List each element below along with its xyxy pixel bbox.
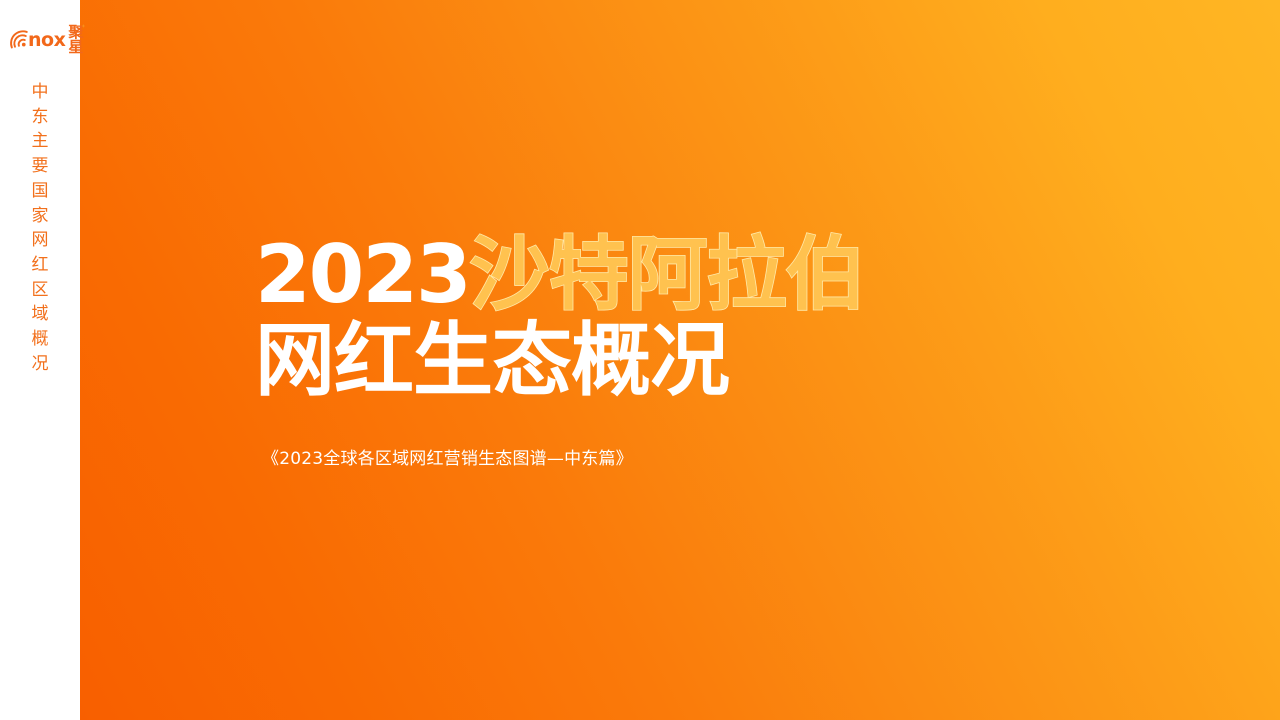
brand-wordmark: nox bbox=[28, 31, 65, 50]
left-sidebar-rail: nox 聚星 中 东 主 要 国 家 网 红 区 域 概 况 bbox=[0, 0, 80, 720]
brand-logo[interactable]: nox 聚星 bbox=[8, 24, 80, 56]
sidebar-vertical-char: 国 bbox=[32, 179, 49, 204]
subtitle: 《2023全球各区域网红营销生态图谱—中东篇》 bbox=[262, 444, 633, 469]
sidebar-vertical-char: 区 bbox=[32, 278, 49, 303]
cover-slide: nox 聚星 中 东 主 要 国 家 网 红 区 域 概 况 2023沙特阿拉伯… bbox=[0, 0, 1280, 720]
title-line-2: 网红生态概况 bbox=[255, 322, 1155, 400]
title-country: 沙特阿拉伯 bbox=[470, 228, 865, 321]
title-line-1: 2023沙特阿拉伯 bbox=[255, 236, 1155, 314]
brand-wordmark-cn: 聚星 bbox=[68, 25, 82, 55]
title-year: 2023 bbox=[255, 228, 470, 321]
sidebar-vertical-char: 中 bbox=[32, 80, 49, 105]
sidebar-vertical-char: 东 bbox=[32, 105, 49, 130]
sidebar-vertical-label: 中 东 主 要 国 家 网 红 区 域 概 况 bbox=[0, 80, 80, 376]
sidebar-vertical-char: 红 bbox=[32, 253, 49, 278]
page-title: 2023沙特阿拉伯 网红生态概况 bbox=[255, 236, 1155, 399]
sidebar-vertical-char: 家 bbox=[32, 204, 49, 229]
sidebar-vertical-char: 要 bbox=[32, 154, 49, 179]
sidebar-vertical-char: 主 bbox=[32, 129, 49, 154]
sidebar-vertical-char: 概 bbox=[32, 327, 49, 352]
sidebar-vertical-char: 域 bbox=[32, 302, 49, 327]
sidebar-vertical-char: 况 bbox=[32, 352, 49, 377]
signal-arc-icon bbox=[8, 29, 30, 51]
sidebar-vertical-char: 网 bbox=[32, 228, 49, 253]
